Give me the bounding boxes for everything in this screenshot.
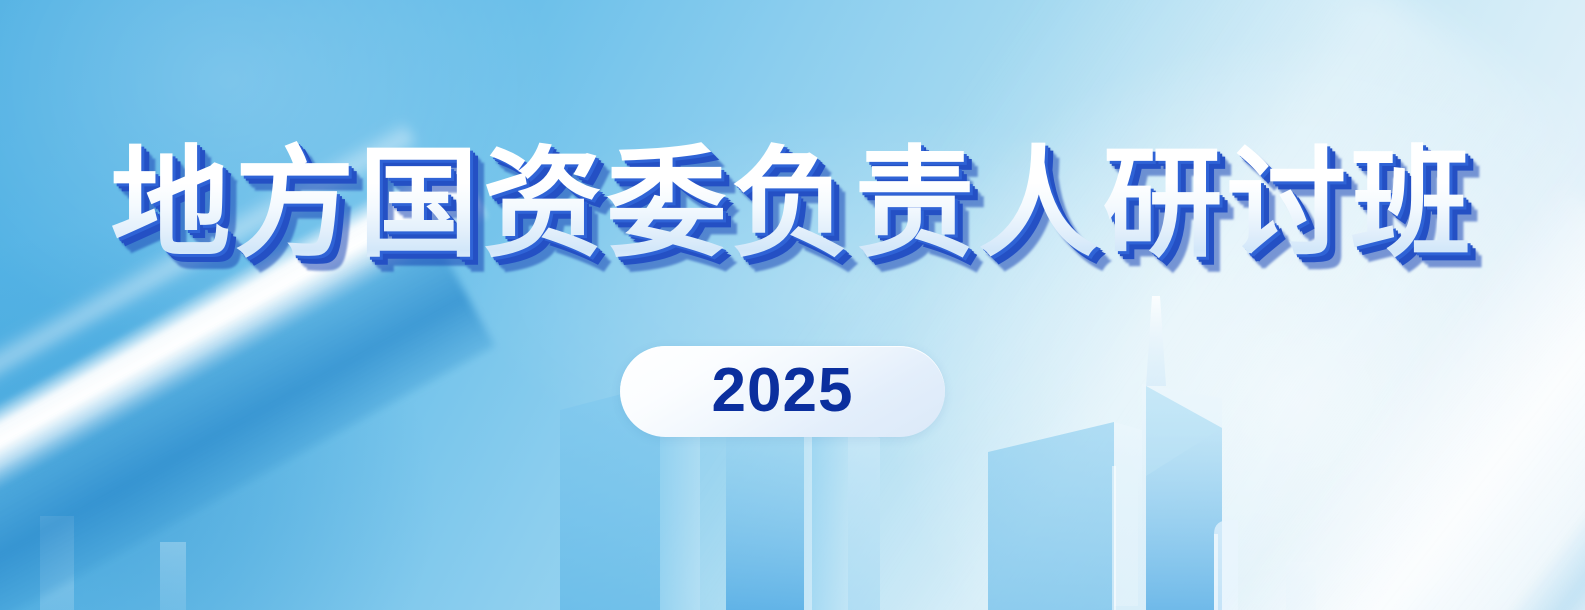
city-skyline-silhouette — [0, 280, 1585, 610]
ribbon-glow — [0, 119, 419, 488]
page-title: 地方国资委负责人研讨班 — [111, 138, 1475, 272]
banner-title-row: 地方国资委负责人研讨班 — [0, 138, 1585, 272]
light-streak-top-right — [642, 0, 1585, 610]
glow-left — [0, 120, 560, 610]
light-streak-bottom-right — [1001, 180, 1585, 610]
ribbon-blue — [0, 215, 495, 610]
ribbon-white — [0, 151, 490, 559]
glow-top-left — [0, 0, 680, 460]
glow-bottom-right — [745, 0, 1585, 610]
diagonal-ribbon-bottom-left — [0, 340, 480, 610]
event-banner: 地方国资委负责人研讨班 2025 — [0, 0, 1585, 610]
light-streak-bottom-right-secondary — [1241, 240, 1585, 610]
glow-center — [300, 30, 1400, 550]
year-badge-label: 2025 — [712, 360, 854, 422]
year-badge: 2025 — [620, 346, 945, 437]
